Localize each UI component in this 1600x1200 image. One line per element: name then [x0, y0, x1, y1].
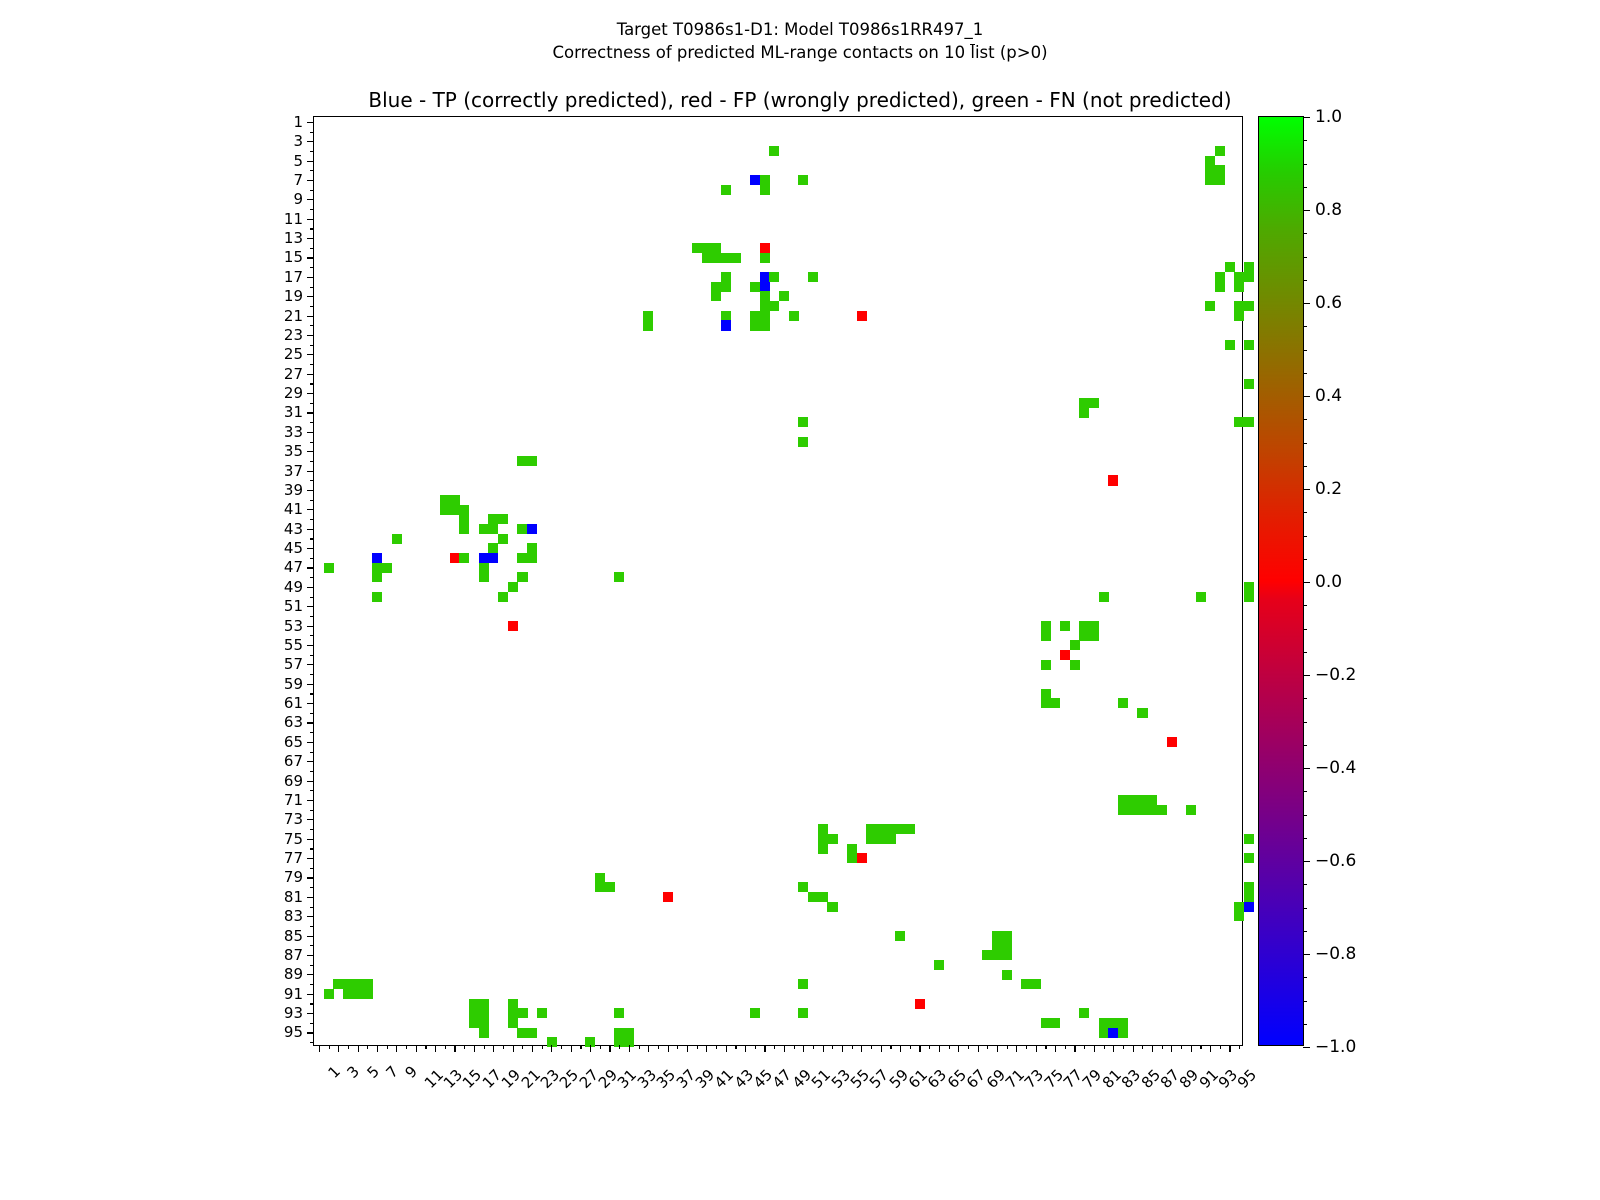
x-tick-major [377, 1045, 378, 1052]
y-tick-label: 19 [284, 287, 303, 305]
heatmap-cell [798, 175, 808, 185]
y-tick-label: 29 [284, 384, 303, 402]
heatmap-cell [353, 989, 363, 999]
heatmap-cell [1244, 902, 1254, 912]
heatmap-cell [643, 320, 653, 330]
y-tick-minor [310, 461, 314, 462]
y-tick-major [307, 684, 314, 685]
heatmap-cell [1021, 979, 1031, 989]
heatmap-cell [1234, 311, 1244, 321]
y-tick-major [307, 587, 314, 588]
x-tick-minor [813, 1045, 814, 1049]
y-tick-minor [310, 519, 314, 520]
x-tick-major [551, 1045, 552, 1052]
y-tick-minor [310, 848, 314, 849]
y-tick-major [307, 722, 314, 723]
y-tick-major [307, 257, 314, 258]
heatmap-cell [789, 311, 799, 321]
x-tick-major [1055, 1045, 1056, 1052]
heatmap-cell [624, 1028, 634, 1038]
y-tick-label: 65 [284, 733, 303, 751]
x-tick-major [823, 1045, 824, 1052]
heatmap-cell [324, 563, 334, 573]
colorbar-tick-label: −1.0 [1315, 1037, 1356, 1057]
y-tick-major [307, 354, 314, 355]
x-tick-major [1036, 1045, 1037, 1052]
heatmap-cell [876, 824, 886, 834]
colorbar-tick-minor [1303, 396, 1307, 397]
colorbar-tick-minor [1303, 326, 1307, 327]
heatmap-cell [1137, 708, 1147, 718]
colorbar-tick-minor [1303, 931, 1307, 932]
heatmap-cell [508, 582, 518, 592]
heatmap-cell [798, 417, 808, 427]
heatmap-cell [992, 931, 1002, 941]
heatmap-cell [508, 621, 518, 631]
y-tick-label: 57 [284, 655, 303, 673]
y-tick-label: 7 [293, 171, 303, 189]
y-tick-major [307, 432, 314, 433]
x-tick-major [861, 1045, 862, 1052]
heatmap-cell [1118, 795, 1128, 805]
heatmap-cell [827, 902, 837, 912]
x-tick-major [1171, 1045, 1172, 1052]
x-tick-major [764, 1045, 765, 1052]
y-tick-minor [310, 1023, 314, 1024]
heatmap-cell [1234, 301, 1244, 311]
colorbar[interactable]: 1.00.80.60.40.20.0−0.2−0.4−0.6−0.8−1.0 [1258, 116, 1304, 1046]
x-tick-minor [929, 1045, 930, 1049]
colorbar-tick-minor [1303, 233, 1307, 234]
heatmap-cell [1215, 175, 1225, 185]
y-tick-minor [310, 655, 314, 656]
colorbar-tick-minor [1303, 164, 1307, 165]
x-tick-minor [1200, 1045, 1201, 1049]
colorbar-tick [1303, 303, 1310, 304]
heatmap-cell [711, 282, 721, 292]
x-tick-major [532, 1045, 533, 1052]
heatmap-cell [1244, 592, 1254, 602]
heatmap-cell [1070, 660, 1080, 670]
figure-canvas: Target T0986s1-D1: Model T0986s1RR497_1 … [0, 0, 1600, 1200]
x-tick-major [1210, 1045, 1211, 1052]
heatmap-cell [818, 892, 828, 902]
x-tick-major [881, 1045, 882, 1052]
y-tick-minor [310, 810, 314, 811]
y-tick-label: 43 [284, 520, 303, 538]
colorbar-tick-minor [1303, 257, 1307, 258]
y-tick-label: 75 [284, 830, 303, 848]
heatmap-cell [353, 979, 363, 989]
heatmap-cell [702, 253, 712, 263]
y-tick-label: 51 [284, 597, 303, 615]
x-tick-major [416, 1045, 417, 1052]
heatmap-cell [798, 1008, 808, 1018]
heatmap-cell [1234, 911, 1244, 921]
heatmap-cell [1244, 417, 1254, 427]
x-tick-major [629, 1045, 630, 1052]
heatmap-cell [1244, 853, 1254, 863]
heatmap-cell [372, 572, 382, 582]
x-tick-minor [329, 1045, 330, 1049]
x-tick-minor [1239, 1045, 1240, 1049]
heatmap-cell [1118, 1018, 1128, 1028]
heatmap-cell [459, 524, 469, 534]
x-tick-major [1191, 1045, 1192, 1052]
heatmap-cell [469, 1008, 479, 1018]
y-tick-minor [310, 965, 314, 966]
heatmap-cell [372, 592, 382, 602]
colorbar-tick-label: 0.4 [1315, 386, 1342, 406]
y-tick-minor [310, 364, 314, 365]
heatmap-cells [314, 117, 1242, 1045]
heatmap-cell [1244, 882, 1254, 892]
heatmap-cell [517, 524, 527, 534]
heatmap-cell [1002, 931, 1012, 941]
colorbar-tick-minor [1303, 629, 1307, 630]
heatmap-cell [915, 999, 925, 1009]
heatmap-cell [1002, 950, 1012, 960]
heatmap-cell [750, 175, 760, 185]
heatmap-cell [721, 253, 731, 263]
heatmap-cell [711, 253, 721, 263]
y-tick-major [307, 742, 314, 743]
x-tick-major [1094, 1045, 1095, 1052]
x-tick-minor [1026, 1045, 1027, 1049]
heatmap-cell [750, 1008, 760, 1018]
y-tick-label: 77 [284, 849, 303, 867]
y-tick-minor [310, 926, 314, 927]
heatmap-cell [450, 553, 460, 563]
heatmap-cell [372, 553, 382, 563]
y-tick-major [307, 955, 314, 956]
heatmap-cell [760, 320, 770, 330]
heatmap-cell [798, 882, 808, 892]
y-tick-label: 39 [284, 481, 303, 499]
x-tick-major [842, 1045, 843, 1052]
x-tick-major [1113, 1045, 1114, 1052]
heatmap-cell [1108, 1028, 1118, 1038]
x-tick-label: 9 [402, 1062, 421, 1081]
y-tick-major [307, 451, 314, 452]
heatmap-cell [760, 243, 770, 253]
y-tick-minor [310, 693, 314, 694]
heatmap-cell [324, 989, 334, 999]
heatmap-cell [1079, 621, 1089, 631]
heatmap-cell [1118, 698, 1128, 708]
heatmap-cell [818, 834, 828, 844]
heatmap-cell [847, 844, 857, 854]
heatmap-cell [769, 301, 779, 311]
y-tick-major [307, 277, 314, 278]
colorbar-tick-minor [1303, 838, 1307, 839]
y-tick-label: 79 [284, 868, 303, 886]
heatmap-cell [760, 282, 770, 292]
y-tick-minor [310, 151, 314, 152]
x-tick-minor [697, 1045, 698, 1049]
x-tick-minor [503, 1045, 504, 1049]
y-tick-major [307, 219, 314, 220]
y-tick-minor [310, 287, 314, 288]
heatmap-cell [1079, 1008, 1089, 1018]
y-tick-major [307, 509, 314, 510]
heatmap-cell [595, 873, 605, 883]
colorbar-tick-minor [1303, 280, 1307, 281]
x-tick-major [338, 1045, 339, 1052]
heatmap-cell [818, 844, 828, 854]
heatmap-cell [1205, 175, 1215, 185]
heatmap-cell [721, 311, 731, 321]
y-tick-minor [310, 132, 314, 133]
heatmap-cell [488, 543, 498, 553]
suptitle-line-2-post: ist (p>0) [975, 43, 1048, 62]
colorbar-tick-minor [1303, 791, 1307, 792]
heatmap-cell [721, 282, 731, 292]
suptitle-line-1: Target T0986s1-D1: Model T0986s1RR497_1 [0, 18, 1600, 41]
x-tick-minor [677, 1045, 678, 1049]
heatmap-cell [731, 253, 741, 263]
y-tick-label: 61 [284, 694, 303, 712]
colorbar-tick-minor [1303, 1001, 1307, 1002]
heatmap-cell [760, 291, 770, 301]
heatmap-cell [1089, 630, 1099, 640]
y-tick-label: 83 [284, 907, 303, 925]
x-tick-label: 5 [363, 1062, 382, 1081]
y-tick-label: 11 [284, 210, 303, 228]
heatmap-cell [479, 563, 489, 573]
heatmap-cell [1041, 630, 1051, 640]
y-tick-label: 1 [293, 113, 303, 131]
y-tick-major [307, 180, 314, 181]
heatmap-cell [450, 495, 460, 505]
y-tick-major [307, 800, 314, 801]
heatmap-cell [663, 892, 673, 902]
colorbar-tick-minor [1303, 1024, 1307, 1025]
heatmap-cell [508, 999, 518, 1009]
y-tick-label: 73 [284, 810, 303, 828]
heatmap-cell [692, 243, 702, 253]
heatmap-cell [1234, 902, 1244, 912]
heatmap-cell [527, 524, 537, 534]
heatmap-cell [760, 253, 770, 263]
heatmap-cell [1215, 165, 1225, 175]
heatmap-cell [818, 824, 828, 834]
colorbar-tick-minor [1303, 884, 1307, 885]
heatmap-cell [760, 272, 770, 282]
colorbar-tick-minor [1303, 489, 1307, 490]
heatmap-cell [517, 1028, 527, 1038]
heatmap-cell [1089, 398, 1099, 408]
y-tick-label: 89 [284, 965, 303, 983]
y-tick-major [307, 703, 314, 704]
heatmap-cell [886, 824, 896, 834]
heatmap-cell [1147, 795, 1157, 805]
x-tick-major [745, 1045, 746, 1052]
y-tick-minor [310, 383, 314, 384]
x-tick-minor [1162, 1045, 1163, 1049]
y-tick-label: 59 [284, 675, 303, 693]
x-tick-major [919, 1045, 920, 1052]
x-tick-minor [1181, 1045, 1182, 1049]
heatmap-cell [1215, 272, 1225, 282]
heatmap-cell [1079, 408, 1089, 418]
y-tick-minor [310, 635, 314, 636]
colorbar-tick [1303, 768, 1310, 769]
y-tick-minor [310, 190, 314, 191]
heatmap-cell [527, 456, 537, 466]
heatmap-cell [459, 505, 469, 515]
y-tick-label: 41 [284, 500, 303, 518]
y-tick-major [307, 761, 314, 762]
heatmap-cell [857, 311, 867, 321]
y-tick-minor [310, 1003, 314, 1004]
heatmap-cell [982, 950, 992, 960]
heatmap-cell [479, 1028, 489, 1038]
heatmap-cell [469, 999, 479, 1009]
heatmap-cell [479, 572, 489, 582]
x-tick-major [1152, 1045, 1153, 1052]
x-tick-major [1229, 1045, 1230, 1052]
y-tick-label: 95 [284, 1023, 303, 1041]
heatmap-cell [721, 272, 731, 282]
colorbar-tick-minor [1303, 815, 1307, 816]
y-tick-minor [310, 674, 314, 675]
y-tick-major [307, 877, 314, 878]
x-tick-minor [1123, 1045, 1124, 1049]
x-tick-major [939, 1045, 940, 1052]
heatmap-cell [1060, 650, 1070, 660]
colorbar-tick-minor [1303, 745, 1307, 746]
heatmap-cell [1215, 282, 1225, 292]
y-tick-major [307, 974, 314, 975]
x-tick-minor [522, 1045, 523, 1049]
heatmap-cell [760, 175, 770, 185]
colorbar-tick-minor [1303, 443, 1307, 444]
suptitle-line-2: Correctness of predicted ML-range contac… [0, 41, 1600, 64]
y-tick-label: 27 [284, 365, 303, 383]
heatmap-cell [1099, 592, 1109, 602]
y-tick-label: 37 [284, 462, 303, 480]
y-tick-label: 55 [284, 636, 303, 654]
y-tick-minor [310, 538, 314, 539]
heatmap-cell [527, 543, 537, 553]
x-tick-minor [1104, 1045, 1105, 1049]
heatmap-cell [488, 553, 498, 563]
contact-map-axes[interactable]: 1357911131517192123252729313335373941434… [313, 116, 1243, 1046]
heatmap-cell [382, 563, 392, 573]
heatmap-cell [537, 1008, 547, 1018]
heatmap-cell [1234, 417, 1244, 427]
heatmap-cell [459, 553, 469, 563]
heatmap-cell [808, 892, 818, 902]
y-tick-major [307, 606, 314, 607]
y-tick-label: 3 [293, 132, 303, 150]
x-tick-minor [367, 1045, 368, 1049]
x-tick-minor [484, 1045, 485, 1049]
heatmap-cell [605, 882, 615, 892]
colorbar-tick [1303, 210, 1310, 211]
colorbar-tick-minor [1303, 512, 1307, 513]
colorbar-tick-minor [1303, 977, 1307, 978]
heatmap-cell [769, 146, 779, 156]
y-tick-minor [310, 422, 314, 423]
heatmap-cell [498, 534, 508, 544]
y-tick-minor [310, 945, 314, 946]
y-tick-major [307, 1013, 314, 1014]
heatmap-cell [1002, 970, 1012, 980]
x-tick-minor [542, 1045, 543, 1049]
y-tick-minor [310, 771, 314, 772]
y-tick-major [307, 393, 314, 394]
heatmap-cell [343, 989, 353, 999]
y-tick-minor [310, 713, 314, 714]
y-tick-minor [310, 616, 314, 617]
y-tick-minor [310, 829, 314, 830]
axes-title: Blue - TP (correctly predicted), red - F… [0, 88, 1600, 112]
heatmap-cell [760, 185, 770, 195]
heatmap-cell [808, 272, 818, 282]
x-tick-minor [425, 1045, 426, 1049]
x-tick-major [784, 1045, 785, 1052]
heatmap-cell [1079, 630, 1089, 640]
colorbar-tick-label: −0.2 [1315, 665, 1356, 685]
heatmap-cell [866, 824, 876, 834]
y-tick-major [307, 122, 314, 123]
x-tick-major [803, 1045, 804, 1052]
y-tick-major [307, 626, 314, 627]
x-tick-major [687, 1045, 688, 1052]
x-tick-minor [774, 1045, 775, 1049]
x-tick-major [978, 1045, 979, 1052]
y-tick-minor [310, 1042, 314, 1043]
colorbar-tick-label: 0.2 [1315, 479, 1342, 499]
x-tick-minor [755, 1045, 756, 1049]
y-tick-major [307, 897, 314, 898]
heatmap-cell [479, 1018, 489, 1028]
colorbar-tick-minor [1303, 559, 1307, 560]
heatmap-cell [508, 1018, 518, 1028]
colorbar-tick-minor [1303, 419, 1307, 420]
y-tick-label: 5 [293, 152, 303, 170]
x-tick-minor [619, 1045, 620, 1049]
heatmap-cell [1070, 640, 1080, 650]
heatmap-cell [1079, 398, 1089, 408]
x-tick-minor [1065, 1045, 1066, 1049]
y-tick-label: 69 [284, 772, 303, 790]
y-tick-major [307, 199, 314, 200]
heatmap-cell [1099, 1018, 1109, 1028]
y-tick-minor [310, 597, 314, 598]
heatmap-cell [1041, 1018, 1051, 1028]
heatmap-cell [702, 243, 712, 253]
y-tick-major [307, 819, 314, 820]
y-tick-minor [310, 790, 314, 791]
heatmap-cell [1205, 156, 1215, 166]
heatmap-cell [1031, 979, 1041, 989]
colorbar-tick-minor [1303, 722, 1307, 723]
x-tick-label: 3 [344, 1062, 363, 1081]
heatmap-cell [721, 320, 731, 330]
x-tick-minor [871, 1045, 872, 1049]
y-tick-minor [310, 403, 314, 404]
colorbar-tick-minor [1303, 908, 1307, 909]
heatmap-cell [1050, 698, 1060, 708]
heatmap-cell [614, 1008, 624, 1018]
colorbar-tick-minor [1303, 373, 1307, 374]
y-tick-major [307, 567, 314, 568]
x-tick-minor [1220, 1045, 1221, 1049]
x-tick-minor [348, 1045, 349, 1049]
